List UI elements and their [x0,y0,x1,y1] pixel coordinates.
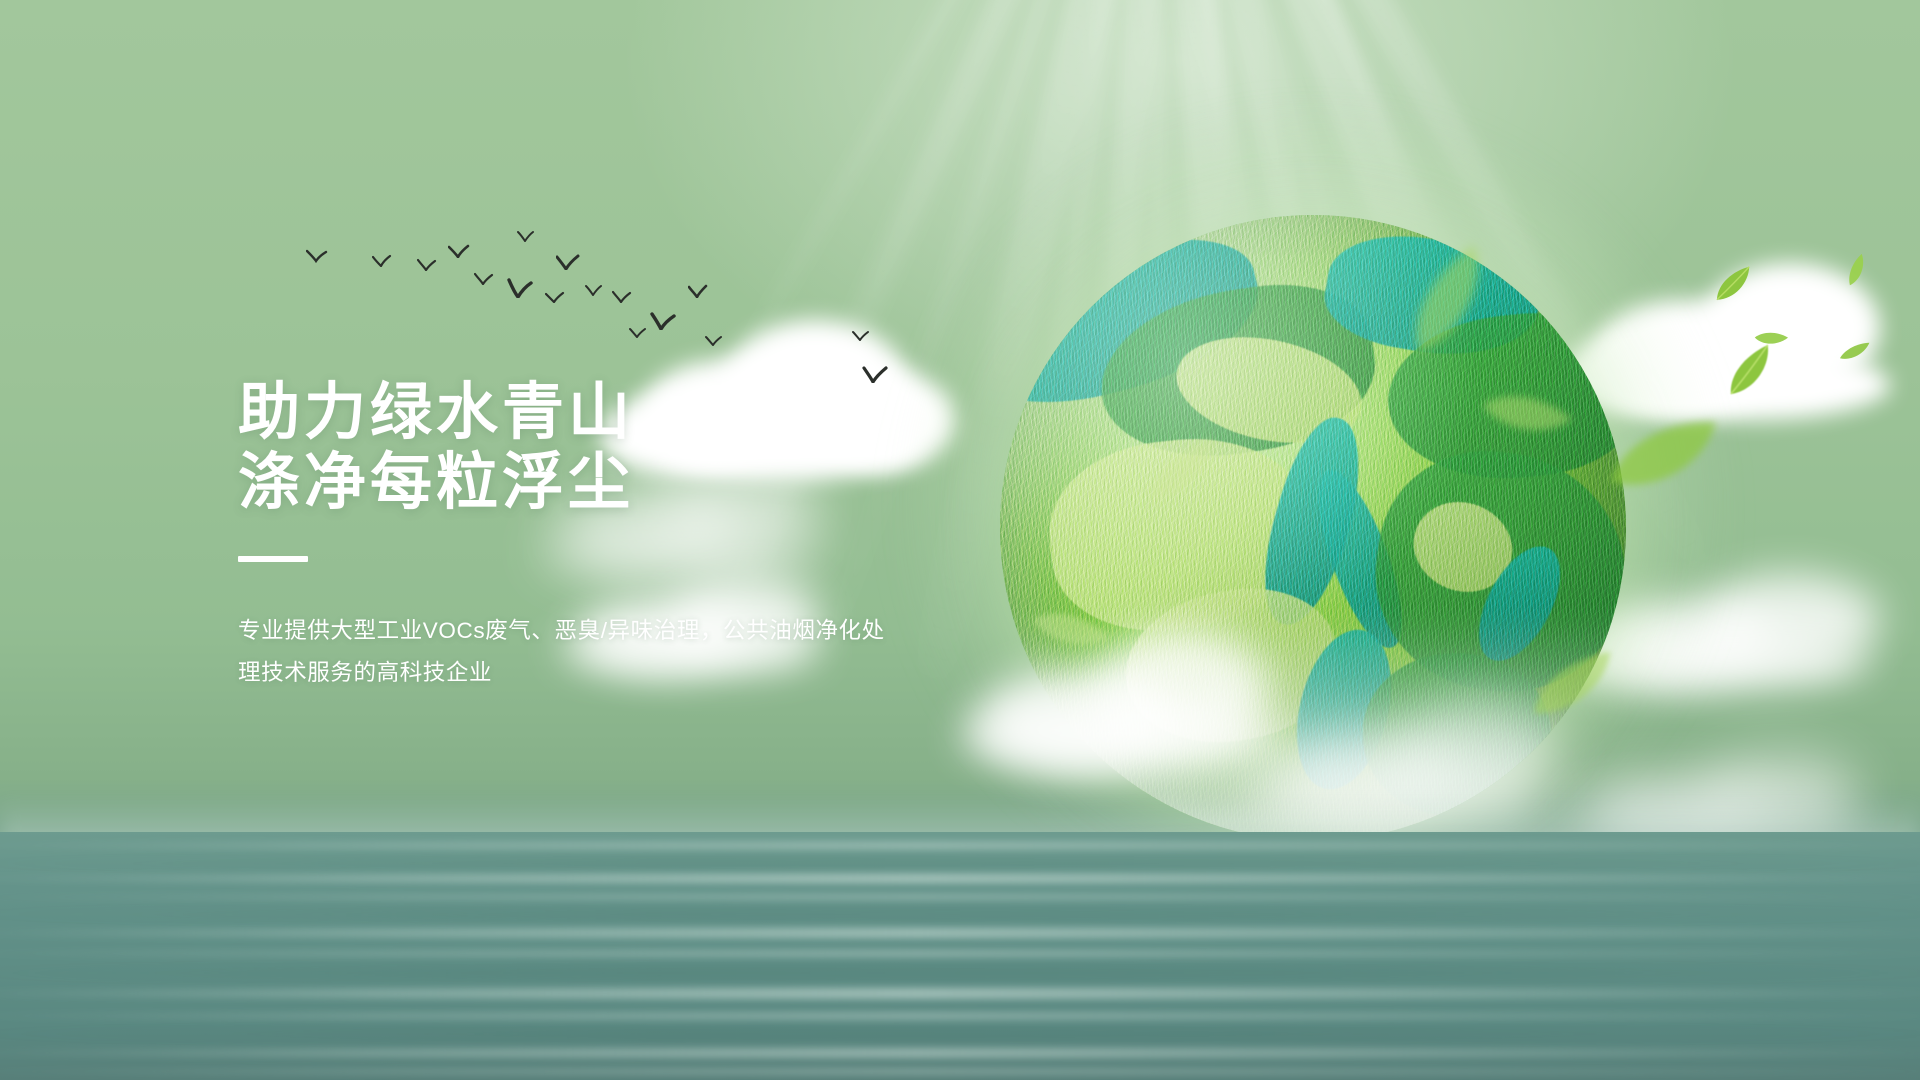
bird-icon [517,230,535,242]
green-earth-globe [1000,215,1626,841]
leaf-icon [1837,341,1874,364]
headline-divider [238,556,308,562]
bird-icon [688,284,708,298]
headline-line-2: 涤净每粒浮尘 [238,448,958,518]
bird-icon [852,330,870,341]
headline-line-1: 助力绿水青山 [238,378,958,448]
bird-icon [612,290,632,303]
bird-icon [417,258,437,271]
bird-icon [585,284,603,296]
bird-icon [507,278,533,298]
bird-icon [372,254,392,267]
globe-sphere [1000,215,1626,841]
bird-icon [556,254,580,270]
bird-icon [448,244,470,258]
hero-copy: 助力绿水青山 涤净每粒浮尘 专业提供大型工业VOCs废气、恶臭/异味治理，公共油… [238,378,958,694]
bird-icon [545,291,565,303]
leaf-icon [1840,252,1874,289]
bird-icon [705,335,723,346]
eco-hero-banner: 助力绿水青山 涤净每粒浮尘 专业提供大型工业VOCs废气、恶臭/异味治理，公共油… [0,0,1920,1080]
bird-icon [629,327,647,338]
reflective-water-surface [0,832,1920,1080]
bird-icon [650,312,676,330]
bird-icon [306,249,328,263]
hero-description: 专业提供大型工业VOCs废气、恶臭/异味治理，公共油烟净化处理技术服务的高科技企… [238,610,890,694]
globe-bottom-mist [1000,616,1626,841]
leaf-icon [1716,341,1786,404]
leaf-icon [1752,326,1790,353]
bird-icon [474,272,494,285]
leaf-icon [1707,262,1762,307]
